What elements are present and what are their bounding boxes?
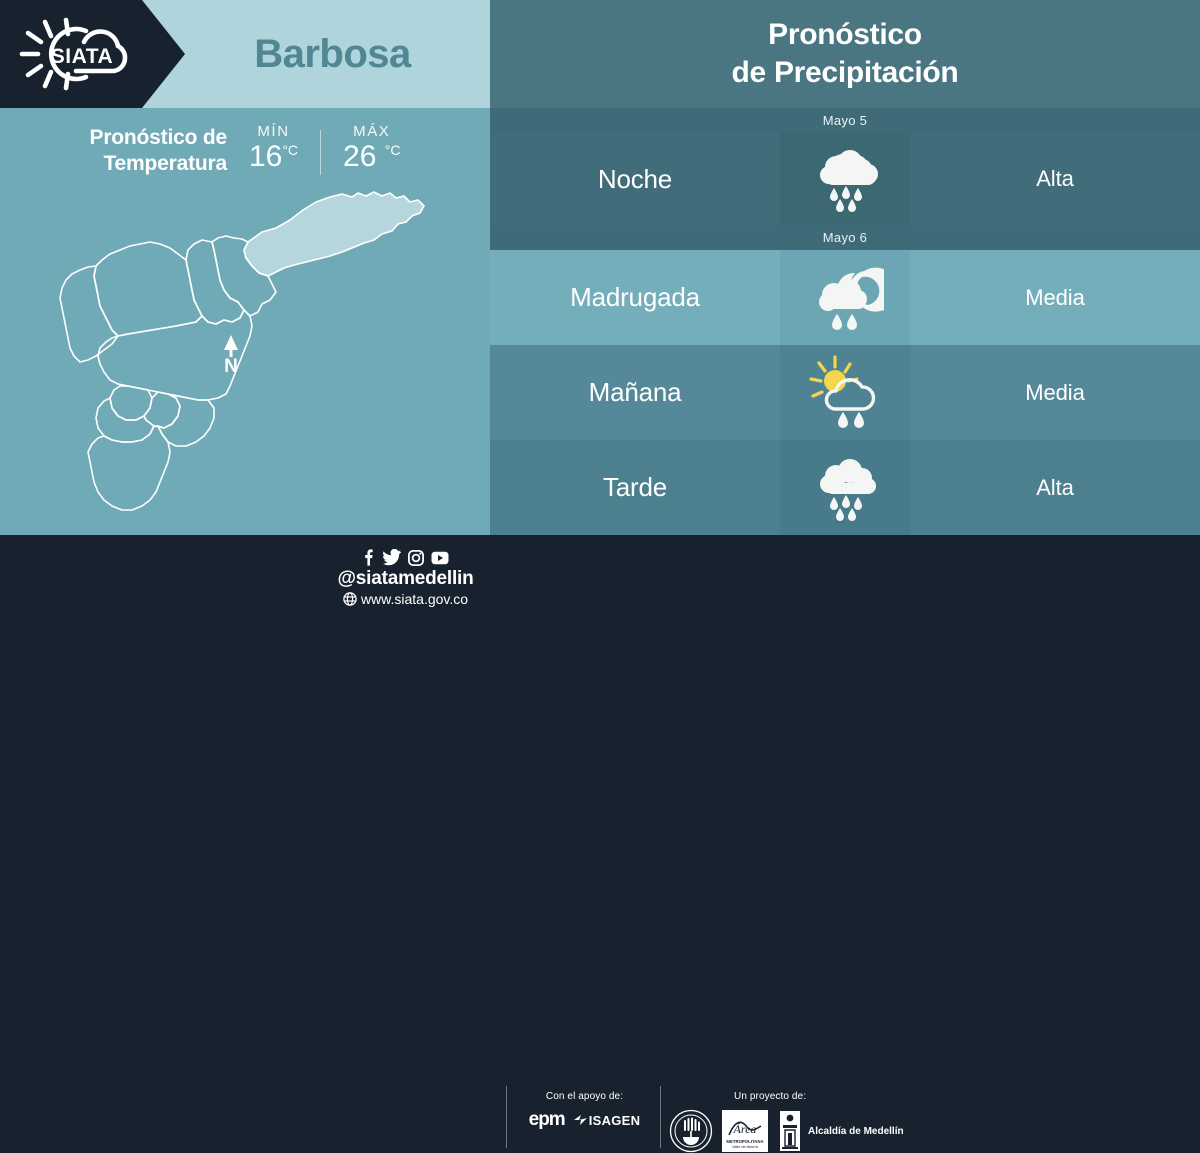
forecast-row-tarde[interactable]: Tarde Alta — [490, 440, 1200, 535]
temperature-title-line1: Pronóstico de — [90, 125, 227, 151]
compass-label: N — [224, 356, 238, 377]
temperature-title: Pronóstico de Temperatura — [90, 118, 227, 176]
area-logo-word: Área — [733, 1122, 757, 1136]
temperature-divider — [320, 130, 321, 175]
left-header: SIATA Barbosa — [0, 0, 490, 108]
right-panel: Pronóstico de Precipitación Mayo 5 Noche — [490, 0, 1200, 535]
project-block: Un proyecto de: Área — [672, 1091, 922, 1153]
map-region-west-upper[interactable] — [60, 266, 118, 362]
footer-divider-2 — [660, 1086, 661, 1148]
weather-icon-cell-madrugada — [780, 250, 910, 345]
period-label-madrugada: Madrugada — [490, 250, 780, 345]
period-label-manana: Mañana — [490, 345, 780, 440]
probability-noche: Alta — [910, 133, 1200, 225]
area-logo-sub1: METROPOLITANA — [726, 1139, 763, 1144]
map-region-barbosa[interactable] — [244, 192, 424, 276]
website-url: www.siata.gov.co — [361, 591, 468, 607]
forecast-row-manana[interactable]: Mañana Med — [490, 345, 1200, 440]
globe-icon — [343, 592, 357, 606]
support-block: Con el apoyo de: epm ISAGEN — [512, 1091, 657, 1131]
map-region-la-estrella[interactable] — [96, 398, 154, 442]
map-svg: N — [0, 180, 490, 535]
alcaldia-logo[interactable]: Alcaldía de Medellín — [777, 1109, 904, 1153]
footer: @siatamedellin www.siata.gov.co Con el a… — [0, 535, 1200, 630]
map-region-caldas[interactable] — [88, 426, 170, 510]
forecast-row-madrugada[interactable]: Madrugada Media — [490, 250, 1200, 345]
twitter-icon[interactable] — [383, 549, 401, 566]
cloud-heavy-rain-icon — [806, 449, 884, 527]
probability-manana: Media — [910, 345, 1200, 440]
isagen-mark-icon — [574, 1114, 587, 1126]
footer-divider-1 — [506, 1086, 507, 1148]
siata-logo-text: SIATA — [51, 45, 113, 68]
website-line[interactable]: www.siata.gov.co — [318, 591, 493, 607]
facebook-icon[interactable] — [363, 549, 376, 566]
temperature-max: MÁX 26 °C — [343, 118, 400, 173]
date-band-mayo-5: Mayo 5 — [490, 108, 1200, 133]
temperature-max-value: 26 °C — [343, 141, 400, 173]
cloud-heavy-rain-icon — [806, 140, 884, 218]
temperature-min-unit: °C — [282, 142, 298, 158]
aburra-valley-map[interactable]: N — [0, 180, 490, 535]
weather-icon-cell-tarde — [780, 440, 910, 535]
support-logos: epm ISAGEN — [512, 1109, 657, 1131]
weather-icon-cell-manana — [780, 345, 910, 440]
map-region-envigado[interactable] — [158, 394, 214, 446]
compass-north-indicator: N — [224, 335, 238, 377]
temperature-max-number: 26 — [343, 140, 376, 173]
epm-logo[interactable]: epm — [529, 1109, 565, 1131]
temperature-min-number: 16 — [249, 140, 282, 173]
precipitation-header: Pronóstico de Precipitación — [490, 0, 1200, 108]
social-handle[interactable]: @siatamedellin — [318, 568, 493, 590]
universidad-medellin-seal[interactable] — [669, 1109, 713, 1153]
period-label-noche: Noche — [490, 133, 780, 225]
temperature-title-line2: Temperatura — [90, 151, 227, 177]
precipitation-title-line2: de Precipitación — [732, 54, 959, 92]
temperature-min-label: MÍN — [249, 123, 298, 140]
temperature-max-unit: °C — [385, 142, 401, 158]
isagen-logo[interactable]: ISAGEN — [574, 1113, 641, 1128]
moon-cloud-rain-icon — [806, 259, 884, 337]
precipitation-title: Pronóstico de Precipitación — [732, 16, 959, 93]
alcaldia-label: Alcaldía de Medellín — [808, 1126, 904, 1137]
temperature-min-value: 16°C — [249, 141, 298, 173]
precipitation-title-line1: Pronóstico — [732, 16, 959, 54]
alcaldia-crest-icon — [777, 1109, 803, 1153]
support-caption: Con el apoyo de: — [512, 1091, 657, 1102]
youtube-icon[interactable] — [431, 551, 449, 565]
sun-cloud-rain-icon — [805, 353, 885, 433]
siata-logo-badge[interactable]: SIATA — [0, 0, 185, 108]
temperature-max-label: MÁX — [343, 123, 400, 140]
social-icons — [318, 549, 493, 566]
probability-tarde: Alta — [910, 440, 1200, 535]
project-caption: Un proyecto de: — [734, 1091, 922, 1102]
city-name: Barbosa — [185, 0, 490, 108]
area-logo-sub2: Valle de Aburrá — [732, 1145, 759, 1149]
weather-icon-cell-noche — [780, 133, 910, 225]
sun-cloud-icon: SIATA — [14, 15, 164, 93]
isagen-wordmark: ISAGEN — [589, 1113, 641, 1128]
map-region-copacabana[interactable] — [186, 240, 244, 324]
period-label-tarde: Tarde — [490, 440, 780, 535]
social-block: @siatamedellin www.siata.gov.co — [318, 549, 493, 607]
instagram-icon[interactable] — [408, 550, 424, 566]
forecast-row-noche[interactable]: Noche Alta — [490, 133, 1200, 225]
area-metropolitana-logo[interactable]: Área METROPOLITANA Valle de Aburrá — [721, 1109, 769, 1153]
temperature-min: MÍN 16°C — [249, 118, 298, 173]
date-band-mayo-6: Mayo 6 — [490, 225, 1200, 250]
probability-madrugada: Media — [910, 250, 1200, 345]
left-panel: SIATA Barbosa Pronóstico de Temperatura … — [0, 0, 490, 535]
map-region-bello[interactable] — [94, 242, 202, 336]
project-logos: Área METROPOLITANA Valle de Aburrá Alca — [669, 1109, 922, 1153]
